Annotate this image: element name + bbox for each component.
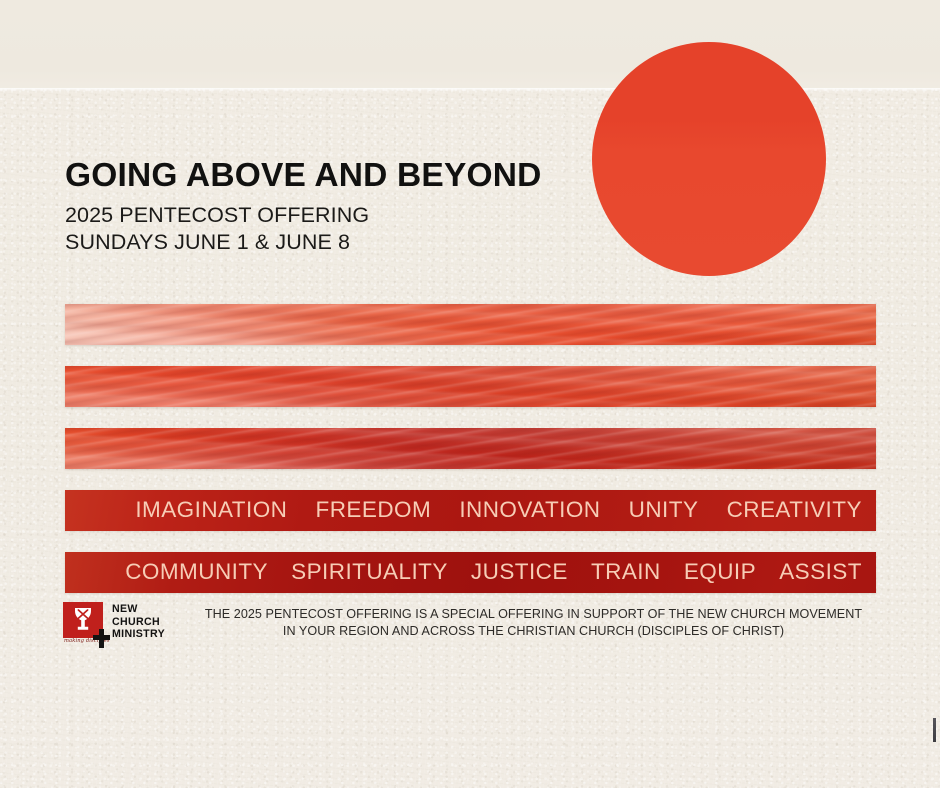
keyword-unity: UNITY <box>629 499 699 522</box>
stripe-streak-overlay-secondary <box>65 366 876 407</box>
keyword-row-2: COMMUNITY SPIRITUALITY JUSTICE TRAIN EQU… <box>65 552 876 593</box>
keyword-equip: EQUIP <box>684 561 756 584</box>
stripe-streak-overlay <box>65 428 876 469</box>
cross-icon <box>93 629 110 648</box>
chalice-mark: making disciples <box>63 602 109 648</box>
disclaimer-line-1: THE 2025 PENTECOST OFFERING IS A SPECIAL… <box>205 607 862 621</box>
logo-wordmark-line-1: NEW <box>112 603 165 616</box>
page-title: GOING ABOVE AND BEYOND <box>65 158 585 194</box>
gradient-stripe-2 <box>65 366 876 407</box>
stripe-stack: IMAGINATION FREEDOM INNOVATION UNITY CRE… <box>65 304 876 593</box>
keyword-row-1: IMAGINATION FREEDOM INNOVATION UNITY CRE… <box>65 490 876 531</box>
page-subtitle-dates: SUNDAYS JUNE 1 & JUNE 8 <box>65 229 585 257</box>
keyword-creativity: CREATIVITY <box>727 499 862 522</box>
keyword-train: TRAIN <box>591 561 661 584</box>
stripe-wave-overlay <box>65 428 876 469</box>
keyword-community: COMMUNITY <box>125 561 268 584</box>
accent-circle <box>592 42 826 276</box>
stripe-streak-overlay <box>65 366 876 407</box>
logo-wordmark-line-3: MINISTRY <box>112 628 165 641</box>
keyword-freedom: FREEDOM <box>316 499 432 522</box>
heading-block: GOING ABOVE AND BEYOND 2025 PENTECOST OF… <box>65 158 585 257</box>
footer: making disciples NEW CHURCH MINISTRY THE… <box>60 600 880 650</box>
stripe-streak-overlay-secondary <box>65 304 876 345</box>
gradient-stripe-3 <box>65 428 876 469</box>
keyword-spirituality: SPIRITUALITY <box>291 561 448 584</box>
stripe-wave-overlay <box>65 366 876 407</box>
disclaimer-text: THE 2025 PENTECOST OFFERING IS A SPECIAL… <box>187 600 880 641</box>
stripe-streak-overlay <box>65 304 876 345</box>
chalice-icon <box>72 606 94 634</box>
pentecost-offering-poster: GOING ABOVE AND BEYOND 2025 PENTECOST OF… <box>0 0 940 788</box>
keyword-imagination: IMAGINATION <box>135 499 287 522</box>
disclaimer-line-2: IN YOUR REGION AND ACROSS THE CHRISTIAN … <box>187 623 880 640</box>
new-church-ministry-logo: making disciples NEW CHURCH MINISTRY <box>60 600 175 650</box>
keyword-innovation: INNOVATION <box>459 499 600 522</box>
logo-wordmark: NEW CHURCH MINISTRY <box>112 603 165 641</box>
logo-wordmark-line-2: CHURCH <box>112 616 165 629</box>
gradient-stripe-1 <box>65 304 876 345</box>
page-subtitle-offering: 2025 PENTECOST OFFERING <box>65 202 585 230</box>
stripe-wave-overlay <box>65 304 876 345</box>
edge-artifact <box>933 718 936 742</box>
keyword-assist: ASSIST <box>779 561 862 584</box>
stripe-streak-overlay-secondary <box>65 428 876 469</box>
keyword-justice: JUSTICE <box>471 561 568 584</box>
